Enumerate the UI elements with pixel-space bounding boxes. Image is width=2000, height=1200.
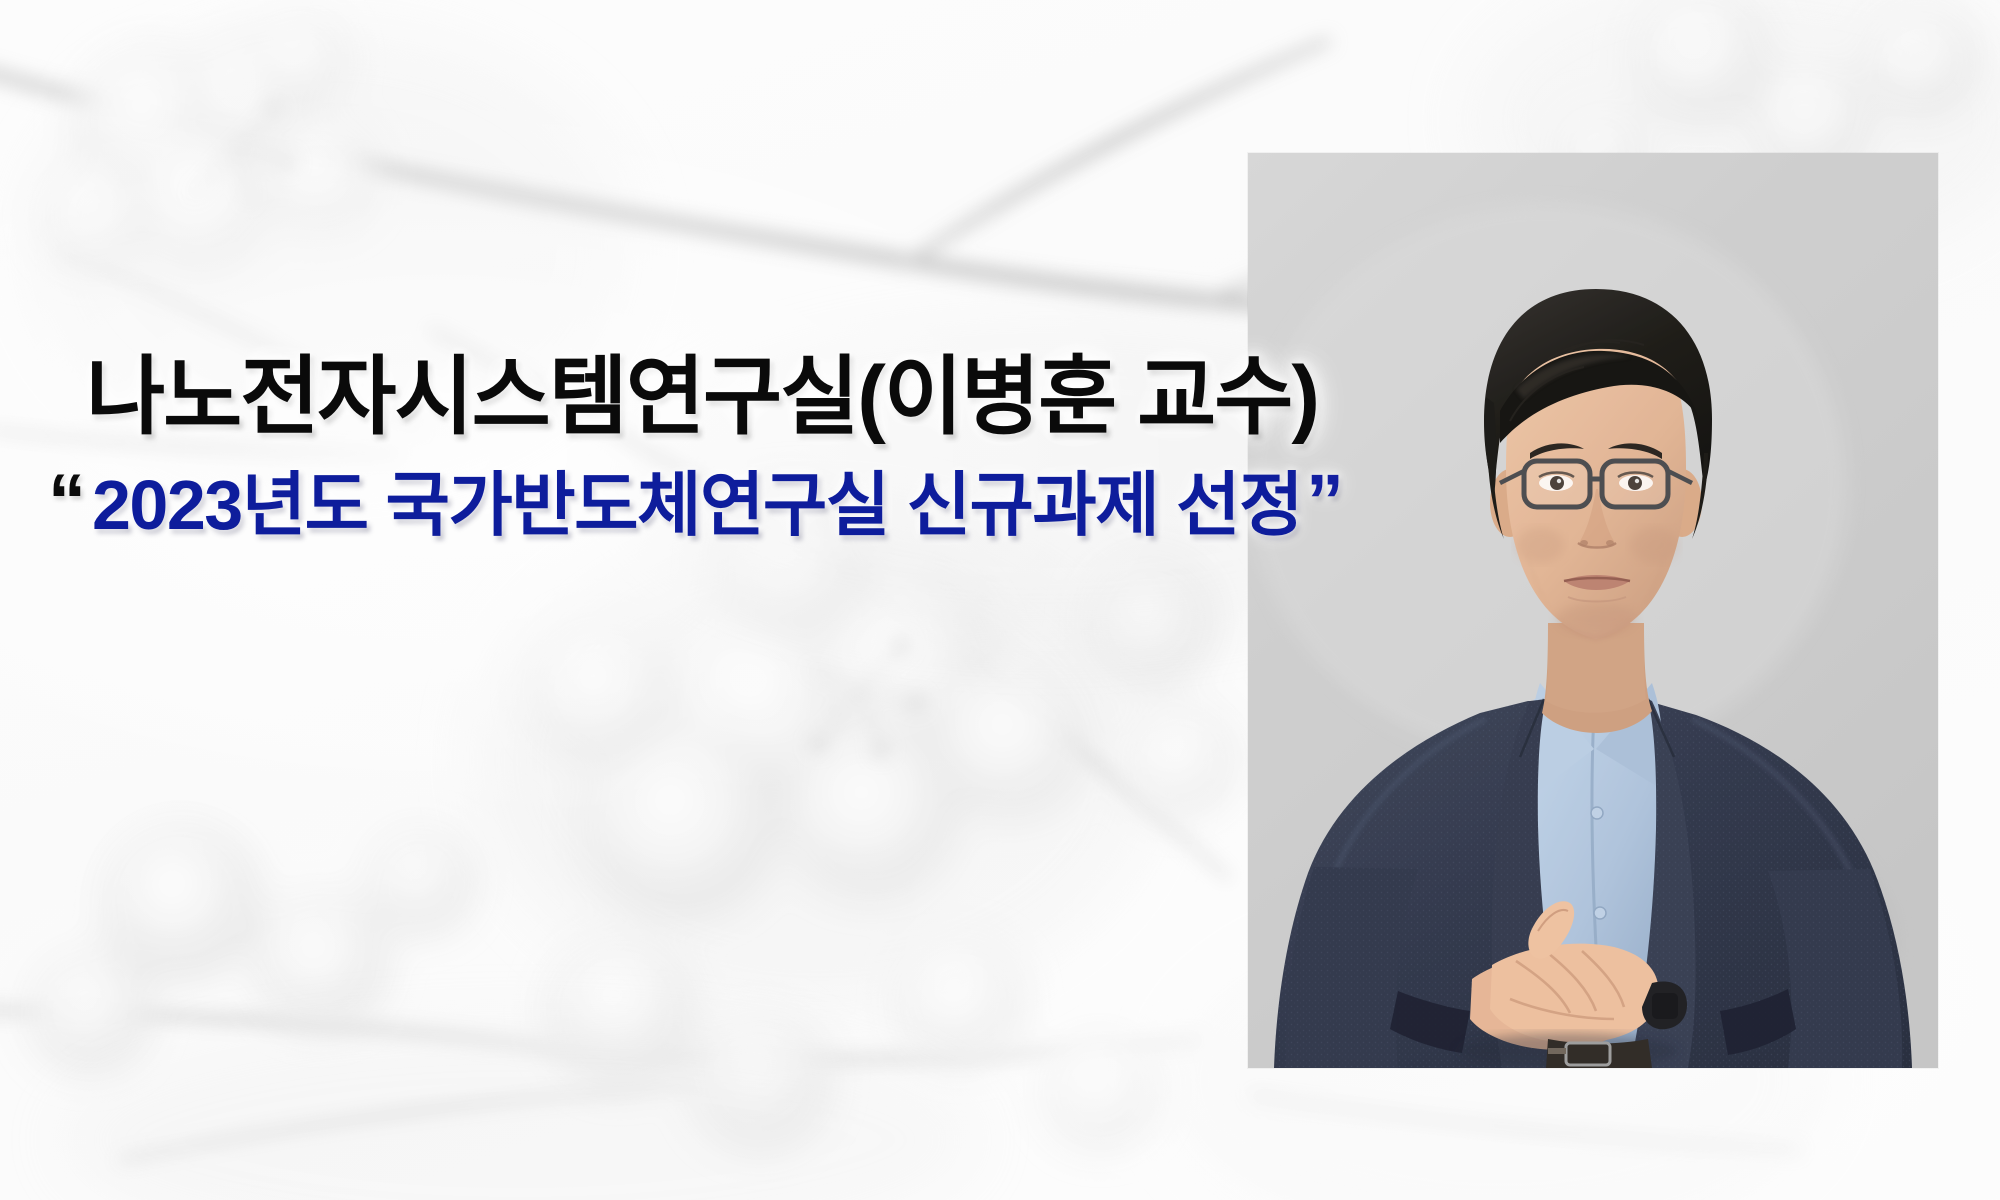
slide-canvas: 나노전자시스템연구실(이병훈 교수) “ 2023년도 국가반도체연구실 신규과… [0,0,2000,1200]
quote-close-mark: ” [1306,464,1344,540]
subtitle-text: 2023년도 국가반도체연구실 신규과제 선정 [92,470,1302,540]
subtitle-row: “ 2023년도 국가반도체연구실 신규과제 선정 ” [48,470,1344,546]
text-block: 나노전자시스템연구실(이병훈 교수) “ 2023년도 국가반도체연구실 신규과… [86,352,1416,442]
page-title: 나노전자시스템연구실(이병훈 교수) [86,352,1416,442]
quote-open-mark: “ [48,464,86,540]
portrait-photo [1248,153,1938,1068]
portrait-illustration [1248,153,1938,1068]
